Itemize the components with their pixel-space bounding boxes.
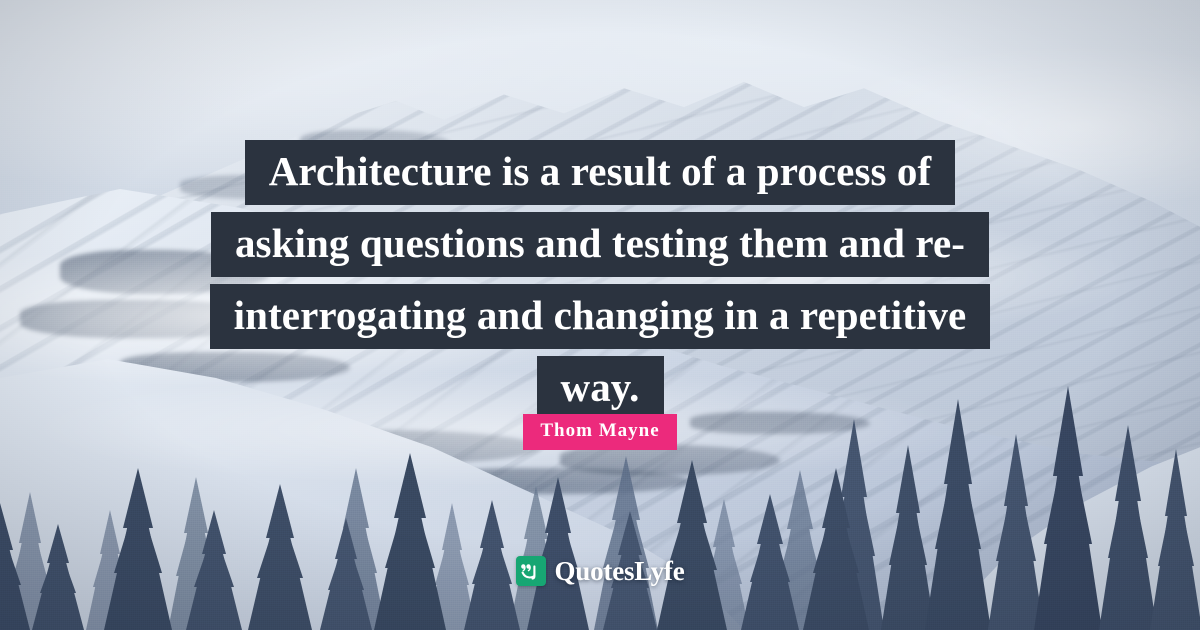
brand-logo: QuotesLyfe	[0, 556, 1200, 586]
quote-line-text: interrogating and changing in a repetiti…	[210, 284, 991, 349]
quote-line: interrogating and changing in a repetiti…	[0, 284, 1200, 349]
quote-text-block: Architecture is a result of a process of…	[0, 140, 1200, 428]
brand-name: QuotesLyfe	[555, 558, 685, 585]
quote-line: asking questions and testing them and re…	[0, 212, 1200, 277]
quote-smiley-icon	[516, 556, 546, 586]
card-content: Architecture is a result of a process of…	[0, 0, 1200, 630]
quote-card: Architecture is a result of a process of…	[0, 0, 1200, 630]
quote-line-text: Architecture is a result of a process of	[245, 140, 956, 205]
author-attribution: Thom Mayne	[0, 414, 1200, 450]
quote-line-text: way.	[537, 356, 664, 421]
quote-line: way.	[0, 356, 1200, 421]
quote-line: Architecture is a result of a process of	[0, 140, 1200, 205]
author-name-badge: Thom Mayne	[523, 414, 676, 450]
quote-line-text: asking questions and testing them and re…	[211, 212, 989, 277]
